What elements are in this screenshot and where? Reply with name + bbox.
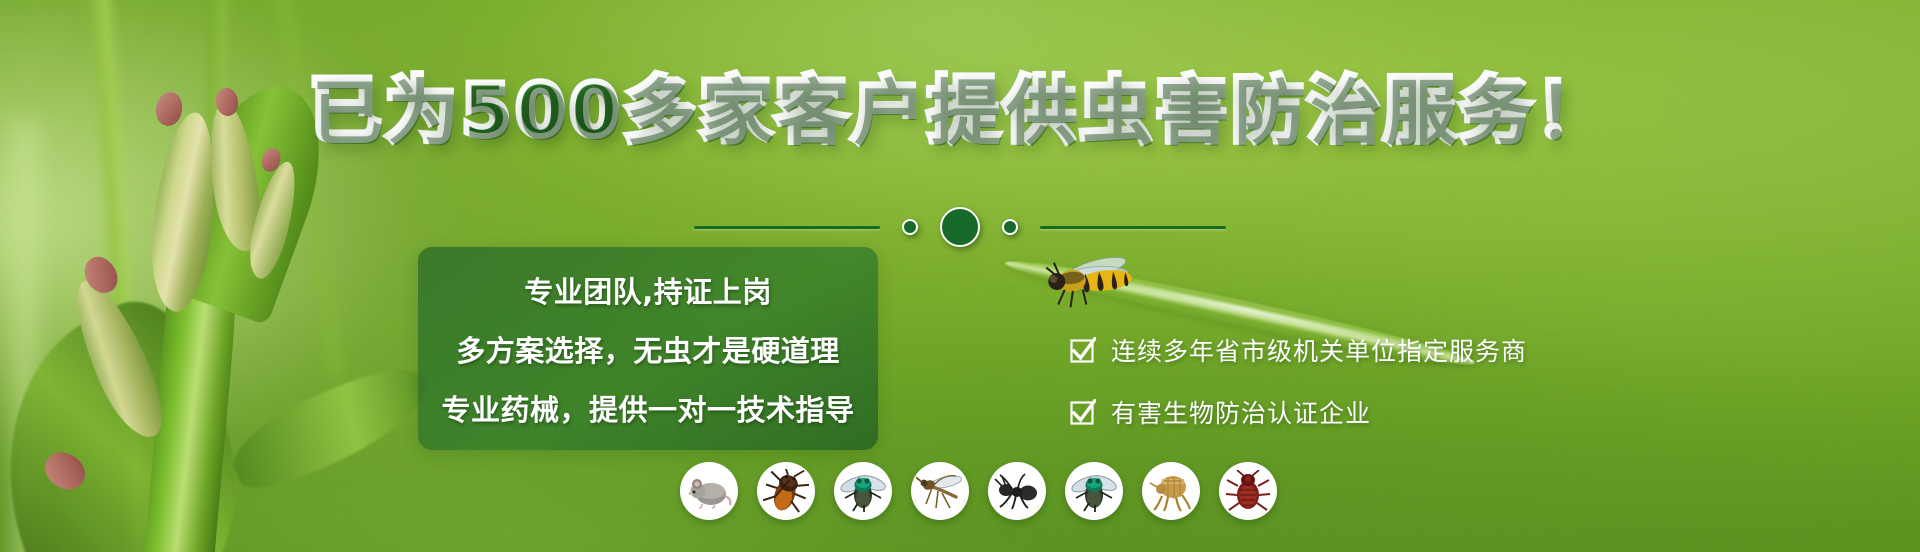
selling-point-1: 专业团队,持证上岗 [524,269,772,311]
banner-headline: 已为500多家客户提供虫害防治服务！ [0,74,1920,146]
list-item-label: 有害生物防治认证企业 [1111,394,1371,430]
divider-dot-large [940,207,980,247]
certification-checklist: 连续多年省市级机关单位指定服务商 有害生物防治认证企业 [1070,332,1527,430]
divider-dot-small-left [902,219,918,235]
divider-rule-left [694,226,880,229]
banner-headline-text: 已为500多家客户提供虫害防治服务！ [309,68,1611,152]
hoverfly-icon [1039,242,1161,320]
pest-icon-row [680,462,1277,520]
pest-icon-cockroach[interactable] [757,462,815,520]
checkbox-check-icon [1070,399,1096,425]
selling-point-2: 多方案选择，无虫才是硬道理 [456,328,840,370]
selling-points-panel: 专业团队,持证上岗 多方案选择，无虫才是硬道理 专业药械，提供一对一技术指导 [418,247,878,450]
divider-dot-small-right [1002,219,1018,235]
list-item: 有害生物防治认证企业 [1070,394,1527,430]
list-item: 连续多年省市级机关单位指定服务商 [1070,332,1527,368]
pest-control-banner: 已为500多家客户提供虫害防治服务！ 专业团队,持证上岗 多方案选择，无虫才是硬… [0,0,1920,552]
pest-icon-mosquito[interactable] [911,462,969,520]
pest-icon-flea[interactable] [1142,462,1200,520]
list-item-label: 连续多年省市级机关单位指定服务商 [1111,332,1527,368]
selling-point-3: 专业药械，提供一对一技术指导 [441,387,854,429]
divider-rule-right [1040,226,1226,229]
pest-icon-mouse[interactable] [680,462,738,520]
pest-icon-bedbug[interactable] [1219,462,1277,520]
decorative-divider [0,207,1920,247]
pest-icon-ant[interactable] [988,462,1046,520]
checkbox-check-icon [1070,337,1096,363]
pest-icon-fly-2[interactable] [1065,462,1123,520]
pest-icon-fly[interactable] [834,462,892,520]
background-stem-highlight [8,120,42,552]
